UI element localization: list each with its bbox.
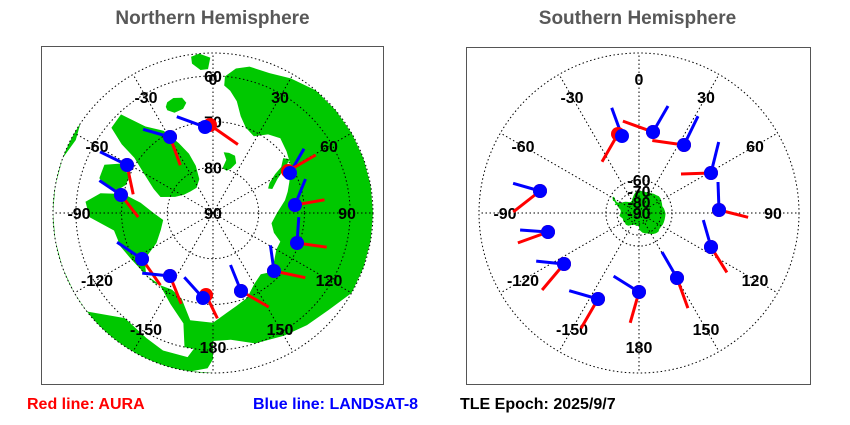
satellite-marker-landsat8 xyxy=(677,138,691,152)
satellite-marker-landsat8 xyxy=(615,129,629,143)
lon-tick-label: -30 xyxy=(134,90,157,107)
lon-tick-label: 90 xyxy=(338,206,356,223)
lon-tick-label: -60 xyxy=(511,139,534,156)
satellite-marker-landsat8 xyxy=(541,225,555,239)
lon-tick-label: -120 xyxy=(81,273,113,290)
lon-tick-label: 60 xyxy=(746,139,764,156)
satellite-marker-landsat8 xyxy=(120,158,134,172)
plot-frame-north: 90807060180-150-120-90-60-30030609012015… xyxy=(41,46,384,385)
panel-title-south: Southern Hemisphere xyxy=(425,8,850,30)
lat-tick-label: 80 xyxy=(204,160,222,177)
lat-tick-label: 90 xyxy=(204,206,222,223)
lon-tick-label: 120 xyxy=(316,273,343,290)
legend-red-line-aura: Red line: AURA xyxy=(27,396,145,414)
satellite-marker-landsat8 xyxy=(234,284,248,298)
satellite-marker-landsat8 xyxy=(114,188,128,202)
lon-tick-label: 180 xyxy=(200,340,227,357)
satellite-marker-landsat8 xyxy=(163,269,177,283)
satellite-marker-landsat8 xyxy=(557,257,571,271)
lon-tick-label: 180 xyxy=(626,340,653,357)
satellite-marker-landsat8 xyxy=(704,240,718,254)
lon-tick-label: 120 xyxy=(742,273,769,290)
lon-tick-label: -90 xyxy=(493,206,516,223)
lon-tick-label: 150 xyxy=(693,322,720,339)
satellite-marker-landsat8 xyxy=(670,271,684,285)
polar-plot-south: -60-70-80-90180-150-120-90-60-3003060901… xyxy=(467,48,810,384)
lon-tick-label: 30 xyxy=(271,90,289,107)
legend-blue-line-landsat8: Blue line: LANDSAT-8 xyxy=(253,396,418,414)
panel-southern-hemisphere: Southern Hemisphere -60-70-80-90180-150-… xyxy=(425,0,850,425)
lon-tick-label: 90 xyxy=(764,206,782,223)
lon-tick-label: 150 xyxy=(267,322,294,339)
satellite-marker-landsat8 xyxy=(290,236,304,250)
plot-frame-south: -60-70-80-90180-150-120-90-60-3003060901… xyxy=(466,47,811,385)
satellite-marker-landsat8 xyxy=(591,292,605,306)
lon-tick-label: -90 xyxy=(67,206,90,223)
panel-northern-hemisphere: Northern Hemisphere 90807060180-150-120-… xyxy=(0,0,425,425)
satellite-marker-landsat8 xyxy=(198,120,212,134)
satellite-marker-landsat8 xyxy=(704,166,718,180)
lon-tick-label: 60 xyxy=(320,139,338,156)
legend-tle-epoch: TLE Epoch: 2025/9/7 xyxy=(460,396,616,414)
legend: Red line: AURA Blue line: LANDSAT-8 TLE … xyxy=(0,396,850,422)
satellite-marker-landsat8 xyxy=(533,184,547,198)
lon-tick-label: 0 xyxy=(635,72,644,89)
satellite-marker-landsat8 xyxy=(288,198,302,212)
satellite-marker-landsat8 xyxy=(283,166,297,180)
lat-tick-label: -90 xyxy=(627,206,650,223)
satellite-marker-landsat8 xyxy=(712,203,726,217)
lon-tick-label: -150 xyxy=(130,322,162,339)
panel-title-north: Northern Hemisphere xyxy=(0,8,425,30)
satellite-marker-landsat8 xyxy=(632,285,646,299)
satellite-marker-landsat8 xyxy=(135,252,149,266)
satellite-marker-landsat8 xyxy=(196,291,210,305)
lon-tick-label: -120 xyxy=(507,273,539,290)
satellite-marker-landsat8 xyxy=(646,125,660,139)
ground-track-figure: Northern Hemisphere 90807060180-150-120-… xyxy=(0,0,850,425)
lon-tick-label: 30 xyxy=(697,90,715,107)
satellite-marker-landsat8 xyxy=(163,130,177,144)
satellite-marker-landsat8 xyxy=(267,264,281,278)
lon-tick-label: 0 xyxy=(209,72,218,89)
lon-tick-label: -30 xyxy=(560,90,583,107)
polar-plot-north: 90807060180-150-120-90-60-30030609012015… xyxy=(42,47,383,384)
